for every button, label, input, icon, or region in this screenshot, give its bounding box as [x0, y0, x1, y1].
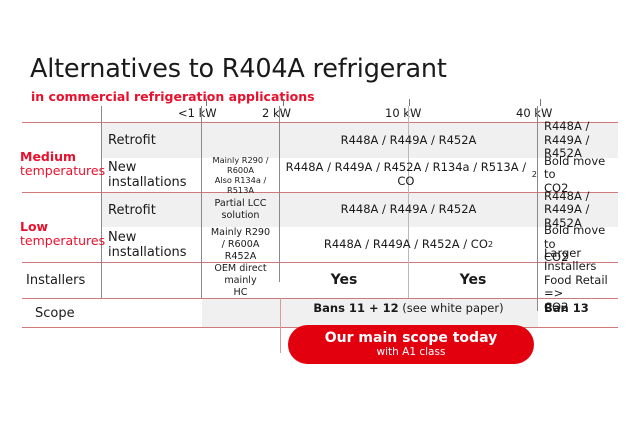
cell-scope-bans: Bans 11 + 12 (see white paper)	[280, 299, 537, 327]
main-scope-callout: Our main scope today with A1 class	[288, 325, 534, 364]
cell-low-retrofit-over40kw: R448A / R449A / R452A	[538, 193, 618, 227]
cell-scope-bans-bold: Bans 11 + 12	[313, 302, 398, 316]
scale-label-10kw: 10 kW	[385, 106, 421, 120]
vline-category-col	[101, 106, 102, 298]
category-low-line1: Low	[20, 220, 99, 234]
row-label-medium-retrofit: Retrofit	[108, 123, 200, 158]
cell-medium-new-sub1kw-line3: Also R134a / R513A	[202, 175, 279, 195]
page-subtitle: in commercial refrigeration applications	[31, 89, 315, 104]
cell-low-new-sub1kw-line3: R452A	[211, 251, 270, 263]
cell-scope-over40kw: Ban 13	[538, 299, 618, 327]
callout-title: Our main scope today	[325, 330, 497, 346]
cell-low-retrofit-main: R448A / R449A / R452A	[280, 193, 537, 227]
scale-label-40kw: 40 kW	[516, 106, 552, 120]
row-label-medium-new: New installations	[108, 158, 200, 192]
scale-label-under-1kw: <1 kW	[178, 106, 217, 120]
category-medium-line2: temperatures	[20, 164, 99, 178]
cell-low-new-main-text: R448A / R449A / R452A / CO	[324, 238, 488, 252]
cell-installers-over40kw: Larger Installers Food Retail => CO2	[538, 263, 620, 298]
cell-low-retrofit-sub1kw-line1: Partial LCC	[215, 198, 267, 210]
cell-medium-new-main-subscript: 2	[532, 170, 537, 180]
cell-scope-bans-note: (see white paper)	[402, 302, 503, 316]
cell-low-retrofit-sub1kw: Partial LCC solution	[202, 193, 279, 227]
cell-medium-new-sub1kw: Mainly R290 / R600A Also R134a / R513A	[202, 158, 279, 192]
row-label-low-new-line1: New	[108, 230, 187, 245]
cell-low-new-sub1kw-line2: / R600A	[211, 239, 270, 251]
row-label-installers: Installers	[26, 263, 101, 298]
cell-installers-right-yes: Yes	[409, 263, 537, 298]
page-title: Alternatives to R404A refrigerant	[30, 54, 447, 84]
row-label-medium-new-line1: New	[108, 160, 187, 175]
cell-installers-mid-yes: Yes	[280, 263, 408, 298]
cell-medium-new-over40kw-line1: Bold move to	[544, 155, 618, 182]
refrigerant-alternatives-table: Medium temperatures Retrofit R448A / R44…	[22, 122, 618, 328]
row-label-low-new-line2: installations	[108, 245, 187, 260]
cell-installers-over40kw-line2: Food Retail =>	[544, 274, 620, 301]
callout-subtitle: with A1 class	[377, 346, 446, 360]
cell-medium-new-sub1kw-line1: Mainly R290 /	[202, 155, 279, 165]
cell-medium-new-main: R448A / R449A / R452A / R134a / R513A / …	[280, 158, 537, 192]
cell-installers-sub1kw-line2: mainly	[214, 275, 266, 287]
row-label-low-new: New installations	[108, 227, 200, 262]
row-label-medium-new-line2: installations	[108, 175, 187, 190]
row-label-low-retrofit: Retrofit	[108, 193, 200, 227]
cell-medium-retrofit-main: R448A / R449A / R452A	[280, 123, 537, 158]
category-label-low: Low temperatures	[20, 220, 99, 248]
cell-installers-sub1kw-line3: HC	[214, 287, 266, 299]
category-label-medium: Medium temperatures	[20, 150, 99, 178]
category-medium-line1: Medium	[20, 150, 99, 164]
cell-low-new-sub1kw: Mainly R290 / R600A R452A	[202, 227, 279, 262]
scale-label-2kw: 2 kW	[262, 106, 291, 120]
scale-tick-4	[540, 99, 541, 106]
scale-tick-3	[409, 99, 410, 106]
cell-medium-new-sub1kw-line2: R600A	[202, 165, 279, 175]
cell-low-new-sub1kw-line1: Mainly R290	[211, 227, 270, 239]
row-label-scope: Scope	[35, 299, 101, 327]
cell-medium-new-over40kw: Bold move to CO2	[538, 158, 618, 192]
cell-medium-retrofit-over40kw: R448A / R449A / R452A	[538, 123, 618, 158]
category-low-line2: temperatures	[20, 234, 99, 248]
cell-installers-sub1kw-line1: OEM direct	[214, 263, 266, 275]
cell-low-new-main-subscript: 2	[488, 240, 493, 250]
cell-low-new-main: R448A / R449A / R452A / CO2	[280, 227, 537, 262]
scale-tick-2	[283, 99, 284, 106]
cell-medium-new-main-text: R448A / R449A / R452A / R134a / R513A / …	[280, 161, 532, 188]
cell-installers-over40kw-line1: Larger Installers	[544, 247, 620, 274]
cell-low-retrofit-sub1kw-line2: solution	[215, 210, 267, 222]
scale-tick-1	[206, 99, 207, 106]
cell-installers-sub1kw: OEM direct mainly HC	[202, 263, 279, 298]
